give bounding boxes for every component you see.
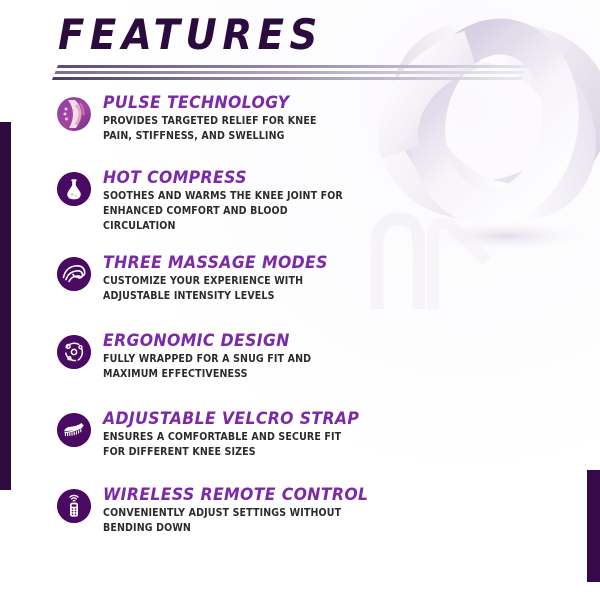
features-poster: FEATURES: [0, 0, 600, 600]
feature-text-block: WIRELESS REMOTE CONTROL CONVENIENTLY ADJ…: [103, 486, 382, 537]
feature-description: SOOTHES AND WARMS THE KNEE JOINT FOR ENH…: [103, 190, 345, 234]
title-rule-2: [54, 71, 525, 74]
flask-heat-icon: [57, 172, 91, 206]
title-rule-3: [52, 77, 523, 80]
feature-title: PULSE TECHNOLOGY: [103, 94, 350, 112]
feature-item-adjustable-velcro-strap: ADJUSTABLE VELCRO STRAP ENSURES A COMFOR…: [0, 410, 600, 466]
feature-title: ADJUSTABLE VELCRO STRAP: [103, 410, 359, 428]
feature-description: CUSTOMIZE YOUR EXPERIENCE WITH ADJUSTABL…: [103, 275, 345, 305]
feature-item-ergonomic-design: ERGONOMIC DESIGN FULLY WRAPPED FOR A SNU…: [0, 332, 600, 388]
feature-title: THREE MASSAGE MODES: [103, 254, 350, 272]
title-underline-rules: [52, 65, 528, 81]
feature-text-block: ERGONOMIC DESIGN FULLY WRAPPED FOR A SNU…: [103, 332, 363, 383]
wireless-remote-icon: [57, 489, 91, 523]
knee-joint-icon: [57, 97, 91, 131]
feature-text-block: THREE MASSAGE MODES CUSTOMIZE YOUR EXPER…: [103, 254, 363, 305]
feature-title: ERGONOMIC DESIGN: [103, 332, 350, 350]
page-title-block: FEATURES: [58, 14, 578, 81]
feature-text-block: PULSE TECHNOLOGY PROVIDES TARGETED RELIE…: [103, 94, 363, 145]
feature-item-three-massage-modes: THREE MASSAGE MODES CUSTOMIZE YOUR EXPER…: [0, 254, 600, 310]
feature-item-wireless-remote-control: WIRELESS REMOTE CONTROL CONVENIENTLY ADJ…: [0, 486, 600, 542]
feature-item-pulse-technology: PULSE TECHNOLOGY PROVIDES TARGETED RELIE…: [0, 94, 600, 150]
feature-item-hot-compress: HOT COMPRESS SOOTHES AND WARMS THE KNEE …: [0, 169, 600, 235]
ergonomic-orbit-icon: [57, 335, 91, 369]
feature-list: PULSE TECHNOLOGY PROVIDES TARGETED RELIE…: [0, 90, 600, 542]
feature-text-block: HOT COMPRESS SOOTHES AND WARMS THE KNEE …: [103, 169, 363, 235]
feature-title: HOT COMPRESS: [103, 169, 350, 187]
title-rule-1: [57, 65, 528, 68]
massage-waves-icon: [57, 257, 91, 291]
velcro-strap-icon: [57, 413, 91, 447]
feature-description: PROVIDES TARGETED RELIEF FOR KNEE PAIN, …: [103, 115, 345, 145]
feature-description: FULLY WRAPPED FOR A SNUG FIT AND MAXIMUM…: [103, 353, 345, 383]
feature-text-block: ADJUSTABLE VELCRO STRAP ENSURES A COMFOR…: [103, 410, 373, 461]
feature-description: CONVENIENTLY ADJUST SETTINGS WITHOUT BEN…: [103, 507, 345, 537]
feature-description: ENSURES A COMFORTABLE AND SECURE FIT FOR…: [103, 431, 345, 461]
page-title: FEATURES: [58, 14, 536, 56]
feature-title: WIRELESS REMOTE CONTROL: [103, 486, 368, 504]
